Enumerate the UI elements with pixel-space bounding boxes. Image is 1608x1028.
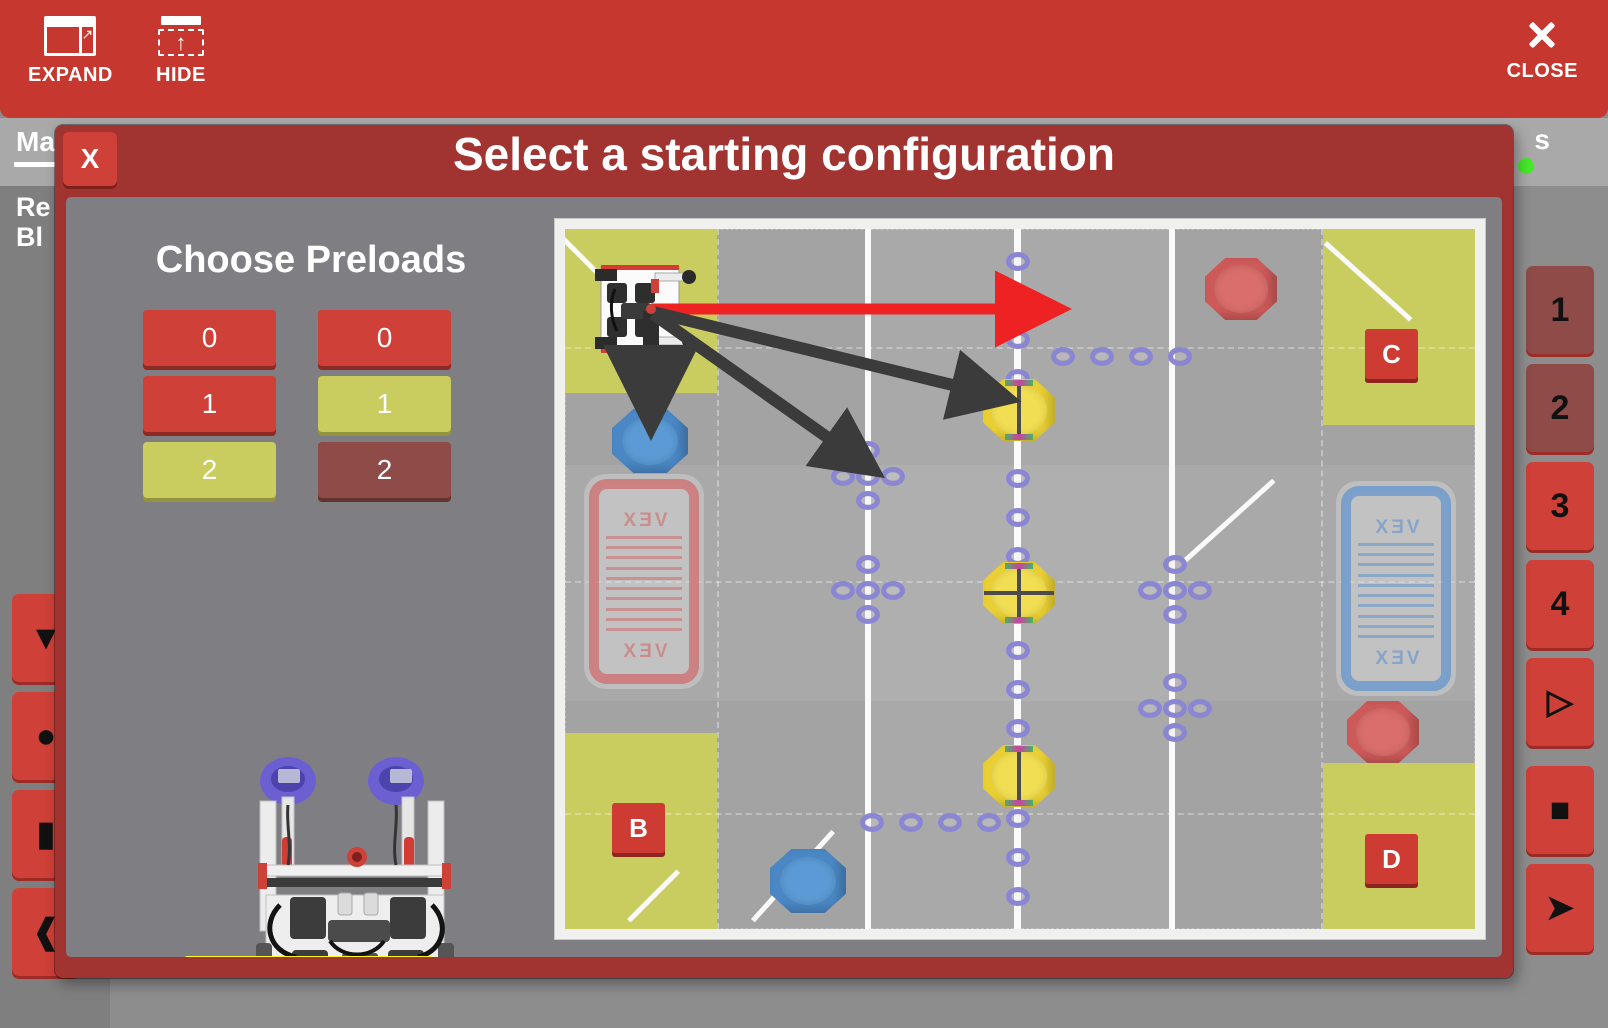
- right-button-pointer[interactable]: ➤: [1526, 864, 1594, 952]
- expand-window-icon: ↗: [44, 16, 96, 56]
- preload-left-0[interactable]: 0: [143, 310, 276, 366]
- mobile-goal-yellow-middle[interactable]: [983, 562, 1055, 624]
- preload-left-2[interactable]: 2: [143, 442, 276, 498]
- ladder-red-label-bottom: VEX: [584, 641, 704, 663]
- hide-button[interactable]: ↑ HIDE: [156, 16, 206, 87]
- confirm-button[interactable]: Confirm: [184, 956, 434, 957]
- mobile-goal-blue-top[interactable]: [612, 409, 688, 473]
- field-preview[interactable]: VEX VEX VEX VEX C B D: [554, 218, 1486, 940]
- ladder-blue-label-bottom: VEX: [1336, 648, 1456, 670]
- mobile-goal-yellow-top[interactable]: [983, 379, 1055, 441]
- corner-tag-b[interactable]: B: [612, 803, 665, 853]
- close-button[interactable]: CLOSE: [1507, 16, 1578, 83]
- dialog-title: Select a starting configuration: [55, 127, 1513, 181]
- dialog-body: Choose Preloads 0 0 1 1 2 2: [66, 197, 1502, 957]
- mobile-goal-blue-bottom[interactable]: [770, 849, 846, 913]
- app-root: Ma s Re Bl ▼ ● ▮ ❰ 1 2 3 4 ▷ ■ ➤ ↗ EXPAN…: [0, 0, 1608, 1028]
- right-button-4[interactable]: 4: [1526, 560, 1594, 648]
- field-line-right: [1169, 229, 1175, 929]
- close-x-icon: [1524, 16, 1560, 52]
- corner-tag-d[interactable]: D: [1365, 834, 1418, 884]
- choose-preloads-heading: Choose Preloads: [66, 239, 556, 282]
- ladder-blue-label-top: VEX: [1336, 517, 1456, 539]
- right-button-stop[interactable]: ■: [1526, 766, 1594, 854]
- right-button-2[interactable]: 2: [1526, 364, 1594, 452]
- dialog-header: X Select a starting configuration: [55, 125, 1513, 197]
- app-panel-heading-line1: Re: [16, 192, 51, 222]
- mobile-goal-red-bottom[interactable]: [1347, 701, 1419, 763]
- top-toolbar: ↗ EXPAND ↑ HIDE CLOSE: [0, 0, 1608, 118]
- starting-configuration-dialog: X Select a starting configuration Choose…: [55, 125, 1513, 978]
- preload-right-1[interactable]: 1: [318, 376, 451, 432]
- expand-button[interactable]: ↗ EXPAND: [28, 16, 113, 87]
- close-button-label: CLOSE: [1507, 60, 1578, 83]
- app-panel-heading: Re Bl: [16, 192, 51, 252]
- app-tab-main[interactable]: Ma: [16, 126, 55, 158]
- robot-preview-image: [242, 745, 474, 957]
- preload-right-2[interactable]: 2: [318, 442, 451, 498]
- preloads-pane: Choose Preloads 0 0 1 1 2 2: [66, 197, 556, 957]
- ladder-blue: VEX VEX: [1336, 481, 1456, 696]
- app-panel-heading-line2: Bl: [16, 222, 51, 252]
- preload-left-1[interactable]: 1: [143, 376, 276, 432]
- app-tab-right[interactable]: s: [1534, 124, 1550, 156]
- preloads-button-grid: 0 0 1 1 2 2: [143, 310, 473, 498]
- mobile-goal-red-top[interactable]: [1205, 258, 1277, 320]
- right-button-1[interactable]: 1: [1526, 266, 1594, 354]
- expand-button-label: EXPAND: [28, 64, 113, 87]
- right-button-play[interactable]: ▷: [1526, 658, 1594, 746]
- hide-button-label: HIDE: [156, 64, 206, 87]
- status-indicator-dot: [1518, 158, 1534, 174]
- field-robot-sprite[interactable]: [593, 259, 705, 359]
- ladder-red: VEX VEX: [584, 474, 704, 689]
- preload-right-0[interactable]: 0: [318, 310, 451, 366]
- corner-tag-c[interactable]: C: [1365, 329, 1418, 379]
- ladder-red-label-top: VEX: [584, 510, 704, 532]
- mobile-goal-yellow-bottom[interactable]: [983, 745, 1055, 807]
- right-button-3[interactable]: 3: [1526, 462, 1594, 550]
- hide-panel-icon: ↑: [158, 16, 204, 56]
- field-tiles: VEX VEX VEX VEX C B D: [565, 229, 1475, 929]
